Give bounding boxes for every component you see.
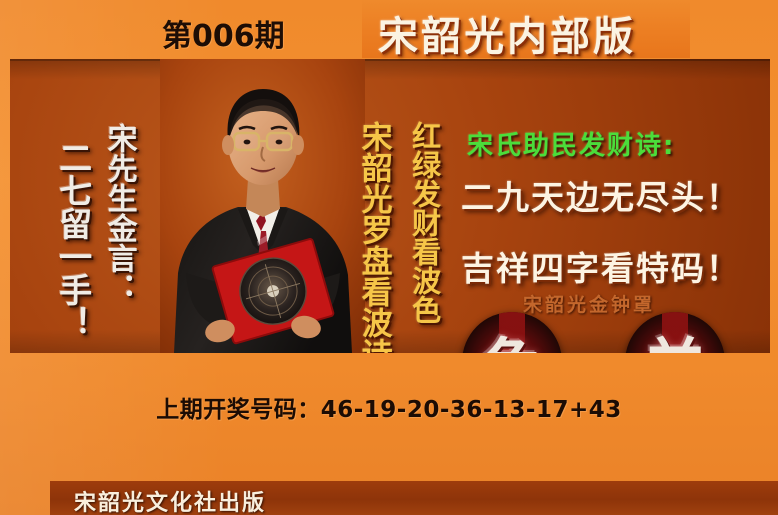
portrait-illustration: [160, 59, 365, 353]
previous-draw-numbers: 上期开奖号码：46-19-20-36-13-17+43: [0, 390, 778, 424]
zodiac-medallion-goat: 羊: [625, 312, 725, 353]
left-quote-body: 二七留一手！: [56, 141, 90, 339]
zodiac-goat-glyph: 羊: [625, 312, 725, 353]
issue-number-label: 第006期: [162, 11, 285, 55]
zodiac-rabbit-glyph: 兔: [462, 312, 562, 353]
lottery-poster: 第006期 宋韶光内部版: [0, 0, 778, 515]
publisher-label: 宋韶光文化社出版: [74, 485, 266, 515]
zodiac-medallion-rabbit: 兔: [462, 312, 562, 353]
poem-line-2: 吉祥四字看特码！: [461, 242, 741, 290]
poem-heading: 宋氏助民发财诗:: [467, 125, 675, 162]
poem-line-1: 二九天边无尽头！: [461, 171, 741, 219]
brand-title: 宋韶光内部版: [378, 4, 636, 62]
left-quote-title: 宋先生金言：: [103, 123, 134, 303]
main-photo-panel: 宋先生金言： 二七留一手！ 宋韶光罗盘看波诗： 红绿发财看波色 宋氏助民发财诗:…: [10, 59, 770, 353]
mid-column-color-poem: 红绿发财看波色: [409, 121, 439, 324]
master-portrait-photo: [160, 59, 365, 353]
mid-column-luopan-poem: 宋韶光罗盘看波诗：: [357, 121, 389, 353]
